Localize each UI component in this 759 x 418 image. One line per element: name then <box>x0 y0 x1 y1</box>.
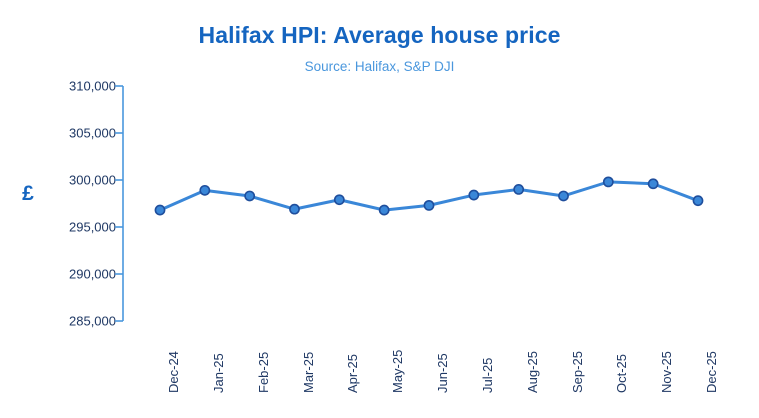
data-point-marker <box>693 196 702 205</box>
data-point-marker <box>380 205 389 214</box>
plot-area <box>0 0 759 418</box>
data-point-marker <box>200 186 209 195</box>
data-point-marker <box>245 191 254 200</box>
data-point-marker <box>649 179 658 188</box>
data-point-marker <box>290 205 299 214</box>
data-point-marker <box>469 190 478 199</box>
y-axis-line <box>115 86 123 321</box>
data-point-marker <box>604 177 613 186</box>
data-point-marker <box>514 185 523 194</box>
chart-container: Halifax HPI: Average house price Source:… <box>0 0 759 418</box>
data-point-marker <box>155 205 164 214</box>
data-point-marker <box>335 195 344 204</box>
data-point-marker <box>424 201 433 210</box>
data-point-marker <box>559 191 568 200</box>
